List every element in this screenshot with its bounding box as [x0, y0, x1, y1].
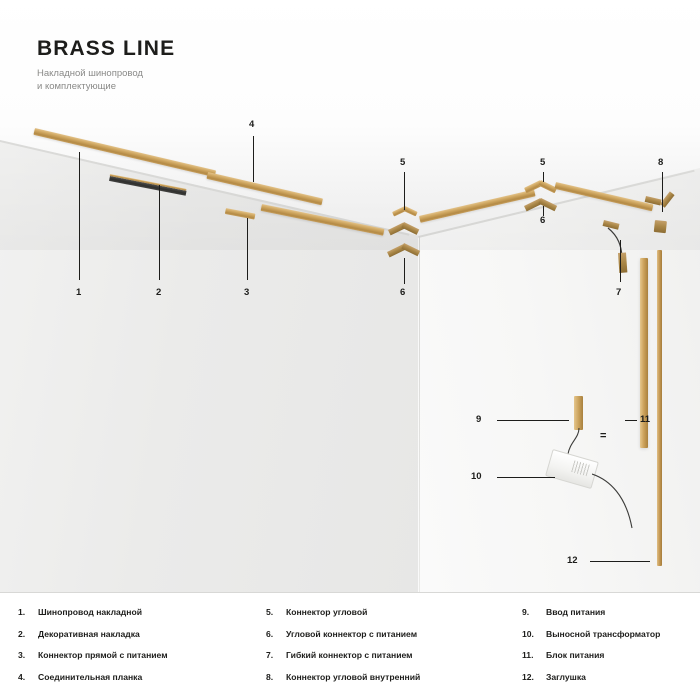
- legend-item: 1. Шинопровод накладной: [18, 607, 266, 618]
- callout-number-7: 7: [616, 288, 621, 298]
- legend-column-1: 1. Шинопровод накладной 2. Декоративная …: [18, 607, 266, 700]
- callout-number-5-mid: 5: [540, 158, 545, 168]
- leader-line-10: [497, 477, 555, 478]
- legend-item-number: 11.: [522, 650, 546, 661]
- legend-item-number: 1.: [18, 607, 38, 618]
- leader-line-12: [590, 561, 650, 562]
- leader-line-7: [620, 240, 621, 282]
- callout-number-2: 2: [156, 288, 161, 298]
- legend-item-label: Угловой коннектор с питанием: [286, 629, 417, 640]
- legend-item-label: Соединительная планка: [38, 672, 142, 683]
- legend-item-number: 7.: [266, 650, 286, 661]
- legend-item: 7. Гибкий коннектор с питанием: [266, 650, 522, 661]
- callout-number-6-left: 6: [400, 288, 405, 298]
- page-subtitle-line-1: Накладной шинопровод: [37, 67, 175, 80]
- leader-line-1: [79, 152, 80, 280]
- callout-number-12: 12: [567, 556, 578, 566]
- legend-item-number: 4.: [18, 672, 38, 683]
- leader-line-6-left: [404, 258, 405, 284]
- legend-item: 8. Коннектор угловой внутренний: [266, 672, 522, 683]
- legend-item: 6. Угловой коннектор с питанием: [266, 629, 522, 640]
- leader-line-3: [247, 218, 248, 280]
- callout-number-1: 1: [76, 288, 81, 298]
- legend-item: 11. Блок питания: [522, 650, 682, 661]
- callout-number-11: 11: [640, 415, 650, 425]
- callout-number-6-right: 6: [540, 216, 545, 226]
- legend-item-label: Коннектор угловой: [286, 607, 367, 618]
- legend-item-label: Ввод питания: [546, 607, 605, 618]
- room-corner-line: [419, 236, 420, 592]
- legend-item-label: Коннектор угловой внутренний: [286, 672, 420, 683]
- legend-item-number: 12.: [522, 672, 546, 683]
- page-subtitle: Накладной шинопровод и комплектующие: [37, 67, 175, 93]
- legend-item-label: Блок питания: [546, 650, 604, 661]
- legend-item-label: Выносной трансформатор: [546, 629, 660, 640]
- leader-line-11: [625, 420, 637, 421]
- power-input-module: [574, 396, 583, 430]
- legend-item-number: 2.: [18, 629, 38, 640]
- leader-line-9: [497, 420, 569, 421]
- legend-item-label: Гибкий коннектор с питанием: [286, 650, 413, 661]
- legend-item-number: 9.: [522, 607, 546, 618]
- transformer-vent-ribs: [571, 460, 590, 476]
- legend-item-label: Заглушка: [546, 672, 586, 683]
- page-subtitle-line-2: и комплектующие: [37, 80, 175, 93]
- legend-item: 9. Ввод питания: [522, 607, 682, 618]
- legend: 1. Шинопровод накладной 2. Декоративная …: [0, 593, 700, 700]
- callout-number-9: 9: [476, 415, 481, 425]
- leader-line-2: [159, 185, 160, 280]
- internal-corner-connector-piece: [654, 220, 667, 233]
- leader-line-8: [662, 172, 663, 212]
- page-root: 1 2 3 4 5 6 5 6 7 8 9 10 11: [0, 0, 700, 700]
- callout-number-5-left: 5: [400, 158, 405, 168]
- legend-column-3: 9. Ввод питания 10. Выносной трансформат…: [522, 607, 682, 700]
- page-title: BRASS LINE: [37, 37, 175, 61]
- legend-item-number: 6.: [266, 629, 286, 640]
- legend-item: 12. Заглушка: [522, 672, 682, 683]
- leader-line-5-mid: [543, 172, 544, 182]
- legend-item-number: 8.: [266, 672, 286, 683]
- legend-item-label: Коннектор прямой с питанием: [38, 650, 168, 661]
- header-block: BRASS LINE Накладной шинопровод и компле…: [37, 37, 175, 93]
- legend-item-number: 5.: [266, 607, 286, 618]
- legend-column-2: 5. Коннектор угловой 6. Угловой коннекто…: [266, 607, 522, 700]
- flexible-connector-wire: [596, 222, 636, 268]
- legend-item: 3. Коннектор прямой с питанием: [18, 650, 266, 661]
- leader-line-5-left: [404, 172, 405, 210]
- equals-sign: =: [600, 430, 606, 442]
- legend-item: 5. Коннектор угловой: [266, 607, 522, 618]
- end-cap-bar: [657, 250, 662, 566]
- transformer-output-wire: [592, 466, 652, 536]
- legend-item: 4. Соединительная планка: [18, 672, 266, 683]
- legend-item-label: Декоративная накладка: [38, 629, 140, 640]
- legend-item-number: 3.: [18, 650, 38, 661]
- callout-number-8: 8: [658, 158, 663, 168]
- leader-line-4: [253, 136, 254, 182]
- callout-number-10: 10: [471, 472, 482, 482]
- legend-item-number: 10.: [522, 629, 546, 640]
- legend-item: 10. Выносной трансформатор: [522, 629, 682, 640]
- legend-item-label: Шинопровод накладной: [38, 607, 142, 618]
- callout-number-3: 3: [244, 288, 249, 298]
- callout-number-4: 4: [249, 120, 254, 130]
- legend-item: 2. Декоративная накладка: [18, 629, 266, 640]
